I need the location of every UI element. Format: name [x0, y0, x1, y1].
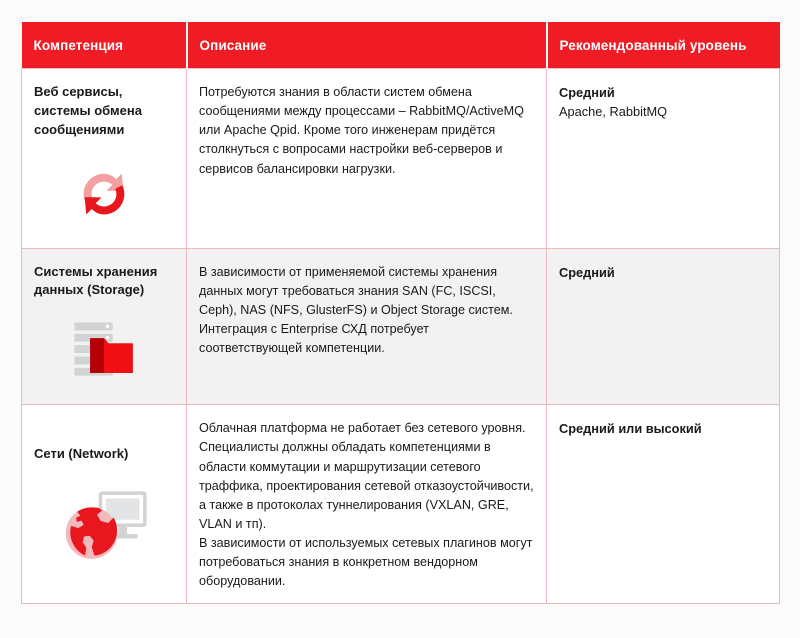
table-row: Веб сервисы, системы обмена сообщениями …	[22, 69, 780, 249]
description-text: Облачная платформа не работает без сетев…	[199, 419, 534, 591]
level-value: Средний	[559, 263, 767, 282]
competence-title: Сети (Network)	[34, 445, 174, 464]
cell-level: Средний или высокий	[547, 405, 780, 604]
storage-server-folder-icon	[34, 314, 174, 392]
cell-level: Средний Apache, RabbitMQ	[547, 69, 780, 249]
cell-level: Средний	[547, 248, 780, 405]
level-value: Средний или высокий	[559, 419, 767, 438]
description-text: В зависимости от применяемой системы хра…	[199, 263, 534, 359]
competence-title: Системы хранения данных (Storage)	[34, 263, 174, 301]
globe-monitor-network-icon	[34, 486, 174, 566]
competence-title: Веб сервисы, системы обмена сообщениями	[34, 83, 174, 140]
level-value: Средний	[559, 83, 767, 102]
sync-arrows-icon	[34, 156, 174, 236]
cell-competence: Системы хранения данных (Storage)	[22, 248, 187, 405]
cell-competence: Сети (Network)	[22, 405, 187, 604]
header-row: Компетенция Описание Рекомендованный уро…	[22, 22, 780, 69]
cell-description: Потребуются знания в области систем обме…	[187, 69, 547, 249]
competency-table: Компетенция Описание Рекомендованный уро…	[21, 22, 780, 604]
cell-description: Облачная платформа не работает без сетев…	[187, 405, 547, 604]
page-root: Компетенция Описание Рекомендованный уро…	[0, 0, 800, 638]
table-header: Компетенция Описание Рекомендованный уро…	[22, 22, 780, 69]
table-row: Системы хранения данных (Storage)	[22, 248, 780, 405]
header-description: Описание	[187, 22, 547, 69]
description-text: Потребуются знания в области систем обме…	[199, 83, 534, 179]
cell-competence: Веб сервисы, системы обмена сообщениями	[22, 69, 187, 249]
header-recommended-level: Рекомендованный уровень	[547, 22, 780, 69]
table-body: Веб сервисы, системы обмена сообщениями …	[22, 69, 780, 604]
cell-description: В зависимости от применяемой системы хра…	[187, 248, 547, 405]
level-detail: Apache, RabbitMQ	[559, 102, 767, 121]
header-competence: Компетенция	[22, 22, 187, 69]
table-row: Сети (Network)	[22, 405, 780, 604]
competency-table-wrapper: Компетенция Описание Рекомендованный уро…	[21, 22, 779, 604]
